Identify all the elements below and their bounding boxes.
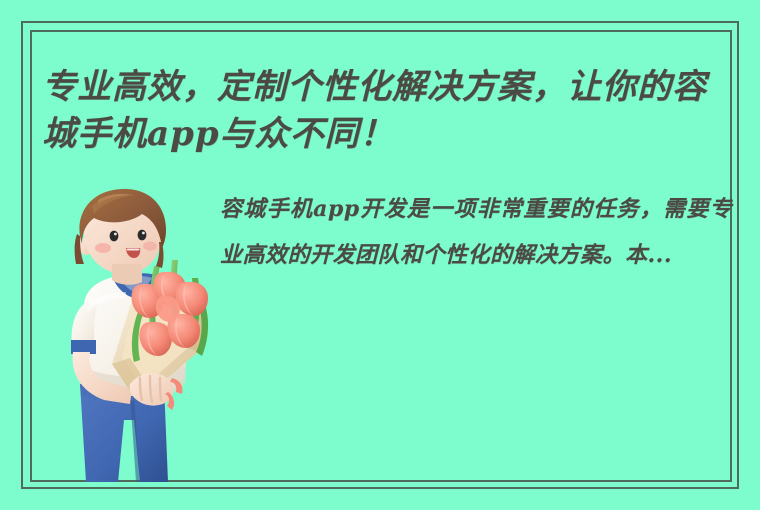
- headline-title: 专业高效，定制个性化解决方案，让你的容城手机app与众不同！: [42, 64, 732, 158]
- article-excerpt: 容城手机app开发是一项非常重要的任务，需要专业高效的开发团队和个性化的解决方案…: [220, 186, 732, 278]
- boy-holding-bouquet-illustration: [46, 188, 226, 482]
- head-shape: [75, 189, 166, 285]
- poster-canvas: 专业高效，定制个性化解决方案，让你的容城手机app与众不同！ 容城手机app开发…: [0, 0, 760, 510]
- blush-right: [143, 241, 157, 250]
- eye-left: [110, 231, 119, 242]
- blush-left: [95, 243, 111, 253]
- eye-right: [138, 230, 147, 241]
